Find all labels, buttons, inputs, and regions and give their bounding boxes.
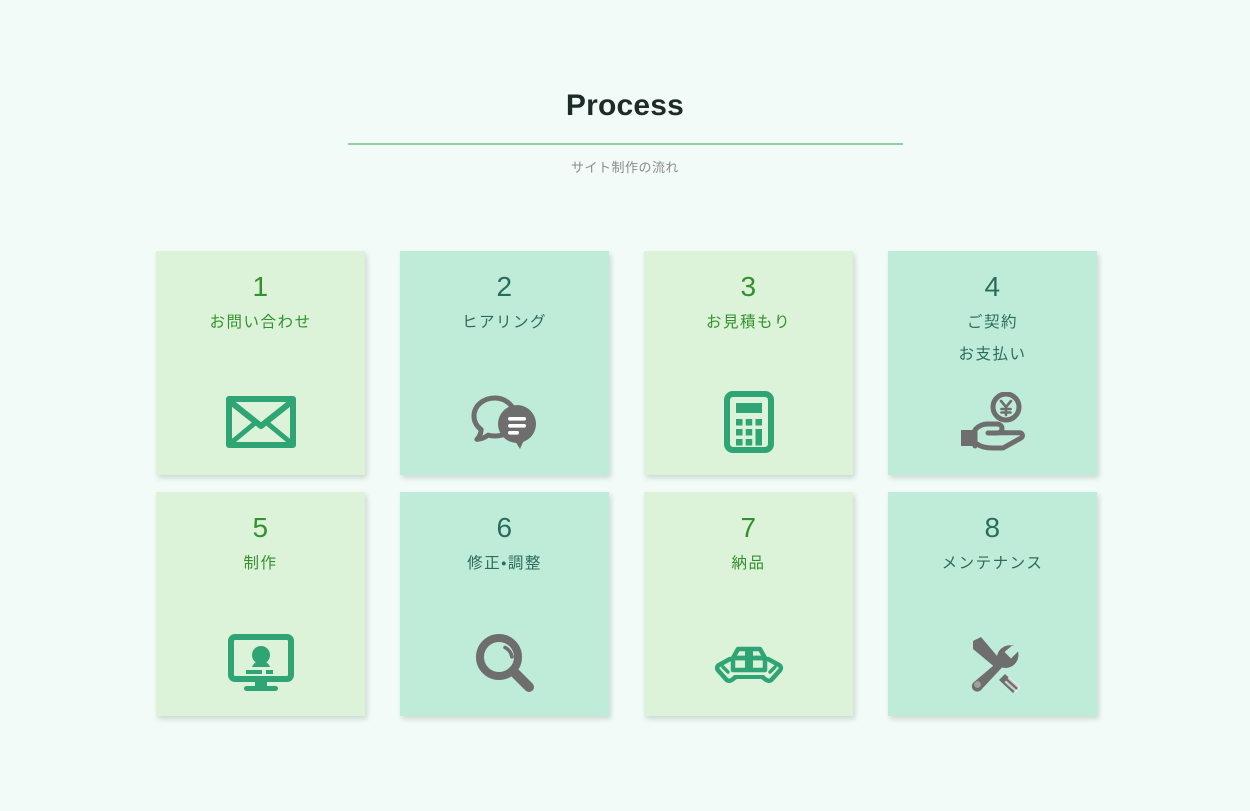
step-label: 納品 <box>644 548 853 580</box>
process-step-card-4[interactable]: 4ご契約お支払い <box>888 251 1097 475</box>
step-label-line: ご契約 <box>888 307 1097 339</box>
step-label: お問い合わせ <box>156 307 365 339</box>
step-number: 7 <box>644 511 853 545</box>
magnifying-glass-icon <box>400 632 609 694</box>
step-number: 5 <box>156 511 365 545</box>
title-divider <box>348 143 903 145</box>
step-number: 2 <box>400 270 609 304</box>
step-label-line: お問い合わせ <box>156 307 365 339</box>
screwdriver-wrench-icon <box>888 632 1097 694</box>
process-step-card-3[interactable]: 3お見積もり <box>644 251 853 475</box>
step-label-line: ヒアリング <box>400 307 609 339</box>
page-title: Process <box>0 88 1250 124</box>
process-section: Process サイト制作の流れ 1お問い合わせ 2ヒアリング 3お見積もり 4 <box>0 0 1250 811</box>
step-number: 3 <box>644 270 853 304</box>
process-step-card-6[interactable]: 6修正・調整 <box>400 492 609 716</box>
process-step-grid: 1お問い合わせ 2ヒアリング 3お見積もり 4ご契約お支払い <box>156 251 1096 716</box>
process-step-card-1[interactable]: 1お問い合わせ <box>156 251 365 475</box>
step-number: 6 <box>400 511 609 545</box>
process-step-card-8[interactable]: 8メンテナンス <box>888 492 1097 716</box>
section-header: Process サイト制作の流れ <box>0 0 1250 177</box>
step-label: 修正・調整 <box>400 548 609 580</box>
step-label: お見積もり <box>644 307 853 339</box>
step-label-line: 修正・調整 <box>400 548 609 580</box>
process-step-card-2[interactable]: 2ヒアリング <box>400 251 609 475</box>
step-number: 4 <box>888 270 1097 304</box>
step-label-line: メンテナンス <box>888 548 1097 580</box>
package-delivery-hands-icon <box>644 632 853 694</box>
process-step-card-5[interactable]: 5制作 <box>156 492 365 716</box>
step-number: 8 <box>888 511 1097 545</box>
step-label: 制作 <box>156 548 365 580</box>
step-label-line: 納品 <box>644 548 853 580</box>
step-label: ヒアリング <box>400 307 609 339</box>
speech-bubbles-icon <box>400 391 609 453</box>
step-label-line: お見積もり <box>644 307 853 339</box>
step-label-line: お支払い <box>888 339 1097 371</box>
calculator-icon <box>644 391 853 453</box>
step-label: ご契約お支払い <box>888 307 1097 371</box>
process-step-card-7[interactable]: 7納品 <box>644 492 853 716</box>
envelope-icon <box>156 391 365 453</box>
page-subtitle: サイト制作の流れ <box>0 159 1250 177</box>
hand-receiving-yen-coin-icon <box>888 391 1097 453</box>
desktop-monitor-user-icon <box>156 632 365 694</box>
step-label-line: 制作 <box>156 548 365 580</box>
step-label: メンテナンス <box>888 548 1097 580</box>
step-number: 1 <box>156 270 365 304</box>
